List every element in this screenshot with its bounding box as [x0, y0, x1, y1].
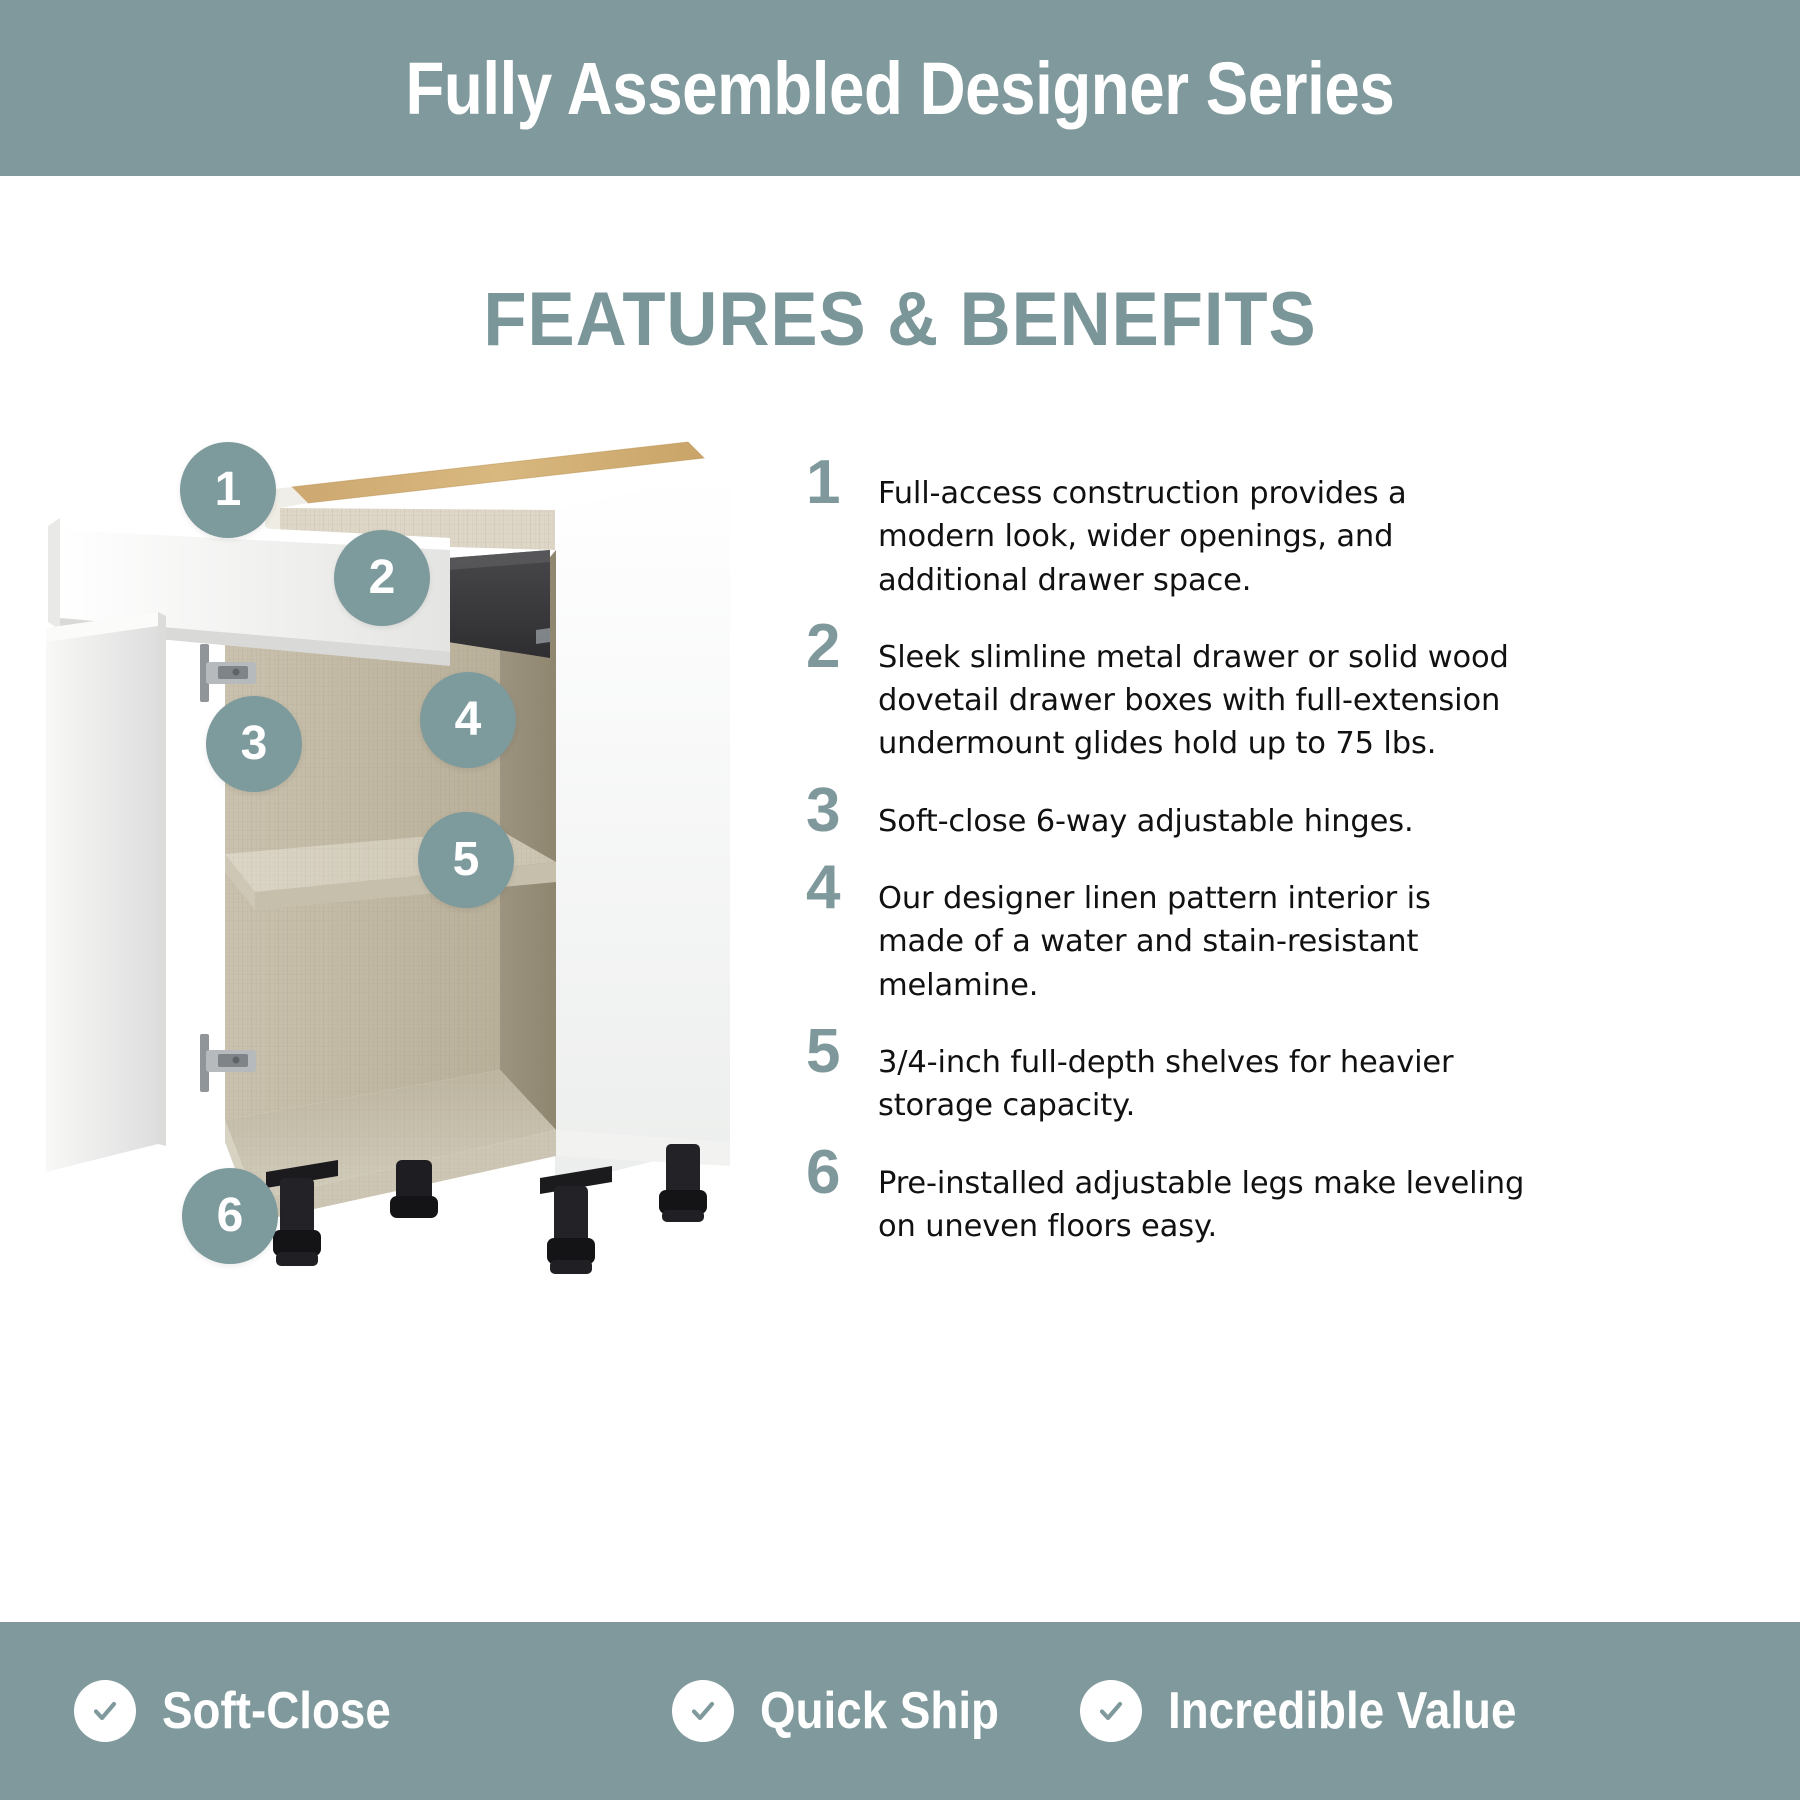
adjustable-leg-back-right — [659, 1144, 707, 1222]
callout-badge-4-number: 4 — [455, 696, 482, 744]
feature-number-2: 2 — [806, 616, 878, 677]
cabinet-door — [46, 612, 166, 1172]
feature-number-5: 5 — [806, 1021, 878, 1082]
marketing-infographic: Fully Assembled Designer Series FEATURES… — [0, 0, 1800, 1800]
header-band: Fully Assembled Designer Series — [0, 0, 1800, 176]
feature-item-5: 5 3/4-inch full-depth shelves for heavie… — [806, 1021, 1526, 1128]
feature-item-1: 1 Full-access construction provides a mo… — [806, 452, 1526, 602]
feature-number-6: 6 — [806, 1142, 878, 1203]
feature-item-6: 6 Pre-installed adjustable legs make lev… — [806, 1142, 1526, 1249]
callout-badge-5-number: 5 — [453, 836, 480, 884]
adjustable-leg-back-left — [390, 1160, 438, 1218]
callout-badge-1: 1 — [180, 442, 276, 538]
callout-badge-4: 4 — [420, 672, 516, 768]
callout-badge-3-number: 3 — [241, 720, 268, 768]
footer-label-incredible-value: Incredible Value — [1168, 1681, 1516, 1741]
cabinet-right-side-panel — [555, 470, 730, 1186]
feature-number-3: 3 — [806, 780, 878, 841]
feature-text-3: Soft-close 6-way adjustable hinges. — [878, 780, 1526, 843]
feature-text-6: Pre-installed adjustable legs make level… — [878, 1142, 1526, 1249]
metal-drawer-box — [448, 550, 550, 658]
callout-badge-2: 2 — [334, 530, 430, 626]
check-circle-icon — [672, 1680, 734, 1742]
callout-badge-1-number: 1 — [215, 466, 242, 514]
feature-item-4: 4 Our designer linen pattern interior is… — [806, 857, 1526, 1007]
footer-band: Soft-Close Quick Ship Incredible Value — [0, 1622, 1800, 1800]
feature-item-2: 2 Sleek slimline metal drawer or solid w… — [806, 616, 1526, 766]
adjustable-leg-front-right — [540, 1166, 612, 1274]
feature-number-1: 1 — [806, 452, 878, 513]
feature-item-3: 3 Soft-close 6-way adjustable hinges. — [806, 780, 1526, 843]
footer-label-soft-close: Soft-Close — [162, 1681, 391, 1741]
feature-text-1: Full-access construction provides a mode… — [878, 452, 1526, 602]
callout-badge-5: 5 — [418, 812, 514, 908]
check-circle-icon — [74, 1680, 136, 1742]
callout-badge-6: 6 — [182, 1168, 278, 1264]
check-circle-icon — [1080, 1680, 1142, 1742]
footer-badge-incredible-value: Incredible Value — [1080, 1680, 1564, 1742]
feature-number-4: 4 — [806, 857, 878, 918]
feature-text-2: Sleek slimline metal drawer or solid woo… — [878, 616, 1526, 766]
callout-badge-2-number: 2 — [369, 554, 396, 602]
feature-text-5: 3/4-inch full-depth shelves for heavier … — [878, 1021, 1526, 1128]
callout-badge-6-number: 6 — [217, 1192, 244, 1240]
feature-text-4: Our designer linen pattern interior is m… — [878, 857, 1526, 1007]
callout-badge-3: 3 — [206, 696, 302, 792]
footer-label-quick-ship: Quick Ship — [760, 1681, 999, 1741]
features-list: 1 Full-access construction provides a mo… — [806, 452, 1526, 1262]
footer-badge-quick-ship: Quick Ship — [672, 1680, 1032, 1742]
page-title: Fully Assembled Designer Series — [406, 46, 1395, 131]
section-title: FEATURES & BENEFITS — [63, 276, 1737, 363]
footer-badge-soft-close: Soft-Close — [74, 1680, 422, 1742]
